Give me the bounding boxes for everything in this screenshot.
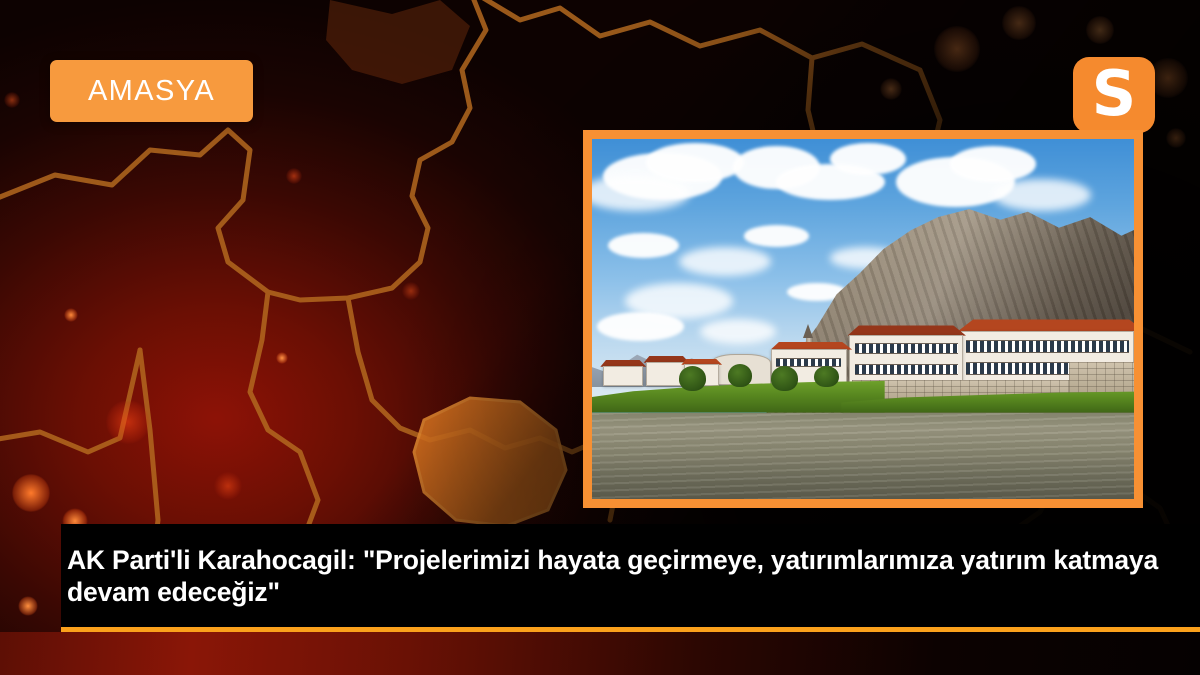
photo-riverbank-tree [679,366,706,391]
photo-window-row [855,364,958,375]
brand-logo-letter-s-icon: S [1092,63,1137,125]
article-photo [592,139,1134,499]
article-headline-text: AK Parti'li Karahocagil: "Projelerimizi … [61,544,1200,609]
brand-logo[interactable]: S [1073,57,1155,133]
photo-riverbank-tree [728,364,752,387]
article-headline-bar: AK Parti'li Karahocagil: "Projelerimizi … [61,524,1200,628]
city-badge-label: AMASYA [88,77,215,106]
city-badge: AMASYA [50,60,253,122]
photo-riverbank-tree [771,366,798,391]
article-photo-frame [583,130,1143,508]
photo-river-reflection [592,413,1134,499]
photo-riverbank-tree [814,366,838,388]
thumbnail-card: AMASYA S [0,0,1200,675]
photo-house [603,366,644,386]
photo-window-row [855,343,958,354]
caption-underlay [0,632,1200,675]
photo-window-row [966,340,1129,353]
article-headline-rule [61,627,1200,632]
